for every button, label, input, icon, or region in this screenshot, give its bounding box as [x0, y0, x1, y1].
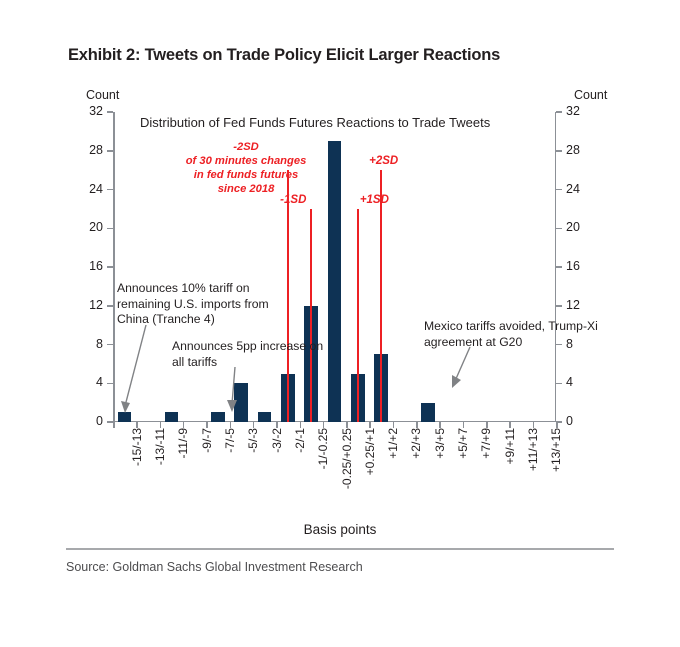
- y-tick-right: [556, 383, 562, 385]
- y-tick-label-right: 4: [566, 376, 573, 389]
- y-tick-right: [556, 228, 562, 230]
- annotation-5pp-increase: Announces 5pp increase on all tariffs: [172, 339, 337, 370]
- y-tick-label-left: 4: [96, 376, 103, 389]
- y-tick-label-left: 16: [89, 260, 103, 273]
- x-axis-label: -9/-7: [200, 428, 214, 453]
- annotation-tranche4: Announces 10% tariff on remaining U.S. i…: [117, 281, 285, 328]
- y-tick-left: [107, 228, 113, 230]
- sd-note-line-1: -2SD: [170, 140, 322, 154]
- y-tick-label-right: 0: [566, 415, 573, 428]
- y-tick-label-left: 8: [96, 338, 103, 351]
- y-tick-left: [107, 383, 113, 385]
- y-tick-label-right: 12: [566, 299, 580, 312]
- x-axis-label: -11/-9: [176, 428, 190, 458]
- y-tick-right: [556, 266, 562, 268]
- x-axis-title: Basis points: [0, 522, 680, 537]
- x-axis-label: +1/+2: [386, 428, 400, 459]
- y-tick-label-left: 24: [89, 183, 103, 196]
- y-tick-label-left: 20: [89, 221, 103, 234]
- sd-note-line-2: of 30 minutes changes: [170, 154, 322, 168]
- source-divider: [66, 548, 614, 550]
- x-axis-label: -5/-3: [246, 428, 260, 453]
- x-axis-label: +13/+15: [549, 428, 563, 472]
- y-tick-right: [556, 189, 562, 191]
- x-axis-label: -13/-11: [153, 428, 167, 465]
- sd-note-line-3: in fed funds futures: [170, 168, 322, 182]
- y-tick-right: [556, 111, 562, 113]
- x-axis-label: +3/+5: [433, 428, 447, 459]
- x-axis-label: -3/-2: [270, 428, 284, 453]
- reference-line--1SD: [310, 209, 312, 422]
- page-title: Exhibit 2: Tweets on Trade Policy Elicit…: [68, 46, 500, 65]
- annotation-mexico-g20: Mexico tariffs avoided, Trump-Xi agreeme…: [424, 319, 609, 350]
- bar-+3/+5: [421, 403, 435, 422]
- bar--11/-9: [165, 412, 179, 422]
- reference-line-label-+1SD: +1SD: [360, 194, 389, 206]
- y-axis-right-caption: Count: [574, 88, 607, 102]
- x-axis-label: -0.25/+0.25: [340, 428, 354, 489]
- bar--7/-5: [211, 412, 225, 422]
- x-axis-label: +11/+13: [526, 428, 540, 471]
- reference-line--2SD: [287, 170, 289, 422]
- source-note: Source: Goldman Sachs Global Investment …: [66, 560, 363, 574]
- x-axis-label: -2/-1: [293, 428, 307, 453]
- x-axis-label: -7/-5: [223, 428, 237, 453]
- reference-line-+2SD: [380, 170, 382, 422]
- y-tick-label-left: 12: [89, 299, 103, 312]
- y-axis-left: [113, 112, 115, 422]
- y-tick-label-right: 16: [566, 260, 580, 273]
- bar--3/-2: [258, 412, 272, 422]
- x-axis-label: -15/-13: [130, 428, 144, 466]
- y-tick-left: [107, 189, 113, 191]
- y-tick-left: [107, 305, 113, 307]
- y-tick-right: [556, 305, 562, 307]
- y-tick-label-right: 32: [566, 105, 580, 118]
- bar--15/-13: [118, 412, 132, 422]
- y-tick-label-right: 20: [566, 221, 580, 234]
- x-axis-label: +0.25/+1: [363, 428, 377, 475]
- reference-line-+1SD: [357, 209, 359, 422]
- sd-minus2-note: -2SD of 30 minutes changes in fed funds …: [170, 140, 322, 196]
- bar--0.25/+0.25: [328, 141, 342, 422]
- x-axis-label: +2/+3: [409, 428, 423, 459]
- y-tick-left: [107, 266, 113, 268]
- y-tick-left: [107, 150, 113, 152]
- x-axis-label: -1/-0.25: [316, 428, 330, 469]
- reference-line-label-+2SD: +2SD: [369, 155, 398, 167]
- x-axis-labels: -15/-13-13/-11-11/-9-9/-7-7/-5-5/-3-3/-2…: [113, 428, 556, 528]
- sd-note-line-4: since 2018: [170, 182, 322, 196]
- x-axis-label: +7/+9: [479, 428, 493, 459]
- x-axis-label: +5/+7: [456, 428, 470, 459]
- y-tick-label-right: 28: [566, 144, 580, 157]
- y-axis-left-caption: Count: [86, 88, 119, 102]
- bar--5/-3: [234, 383, 248, 422]
- y-tick-label-left: 0: [96, 415, 103, 428]
- y-tick-left: [107, 344, 113, 346]
- y-tick-right: [556, 150, 562, 152]
- exhibit-figure: Exhibit 2: Tweets on Trade Policy Elicit…: [0, 0, 680, 647]
- x-axis-label: +9/+11: [503, 428, 517, 464]
- y-tick-left: [107, 111, 113, 113]
- y-tick-label-left: 32: [89, 105, 103, 118]
- y-tick-label-left: 28: [89, 144, 103, 157]
- y-tick-label-right: 24: [566, 183, 580, 196]
